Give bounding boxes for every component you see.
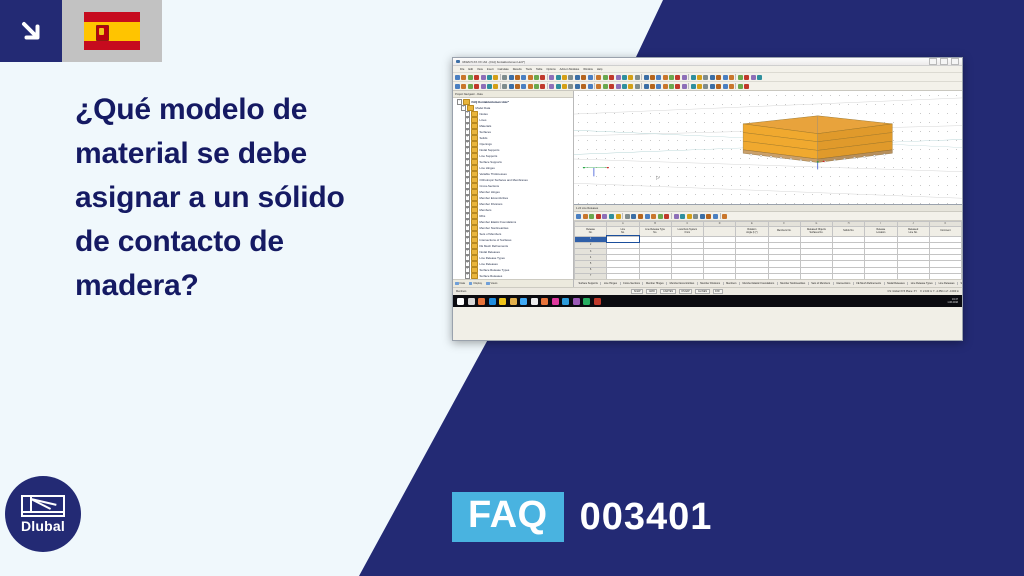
tree-item-label: Member Elastic Foundations bbox=[479, 220, 516, 224]
toolbar-icon[interactable] bbox=[625, 214, 630, 219]
toolbar-divider bbox=[594, 74, 595, 80]
toolbar-icon[interactable] bbox=[663, 84, 668, 89]
toolbar-icon[interactable] bbox=[468, 75, 473, 80]
status-dxf[interactable]: DXF bbox=[713, 289, 723, 294]
folder-icon bbox=[471, 231, 478, 237]
window-title: RFEM 5.XX.XX x64 - [FAQ Kontaktvolumen H… bbox=[463, 60, 526, 64]
tree-expander-icon[interactable]: + bbox=[465, 153, 470, 158]
toolbar-icon[interactable] bbox=[656, 75, 661, 80]
table-tab[interactable]: Sets of Members bbox=[809, 282, 834, 285]
toolbar-divider bbox=[500, 83, 501, 89]
firefox-icon[interactable] bbox=[478, 298, 485, 305]
toolbar-icon[interactable] bbox=[461, 84, 466, 89]
folder-icon bbox=[471, 243, 478, 249]
toolbar-icon[interactable] bbox=[716, 75, 721, 80]
toolbar-icon[interactable] bbox=[487, 84, 492, 89]
model-3d-view bbox=[574, 91, 962, 204]
menu-item-tools[interactable]: Tools bbox=[526, 68, 532, 71]
windows-taskbar[interactable]: 16:471.06.2016 bbox=[453, 295, 962, 307]
toolbar-icon[interactable] bbox=[693, 214, 698, 219]
toolbar-icon[interactable] bbox=[757, 75, 762, 80]
tree-expander-icon[interactable]: + bbox=[465, 201, 470, 206]
table-tab[interactable]: Member Nonlinearities bbox=[778, 282, 809, 285]
tree-expander-icon[interactable]: + bbox=[465, 219, 470, 224]
column-header[interactable]: Local Axis SystemFrom bbox=[671, 226, 703, 236]
folder-icon bbox=[471, 189, 478, 195]
folder-icon bbox=[471, 183, 478, 189]
tree-expander-icon[interactable]: + bbox=[465, 237, 470, 242]
toolbar-icon[interactable] bbox=[487, 75, 492, 80]
table-title: 1.24 Line Releases bbox=[574, 205, 962, 212]
toolbar-divider bbox=[622, 213, 623, 219]
truss-bridge-icon bbox=[21, 495, 65, 517]
column-header[interactable]: Members No. bbox=[768, 226, 800, 236]
folder-icon bbox=[471, 141, 478, 147]
toolbar-icon[interactable] bbox=[744, 75, 749, 80]
toolbar-icon[interactable] bbox=[481, 75, 486, 80]
faq-card: ¿Qué modelo de material se debe asignar … bbox=[0, 0, 1024, 576]
navigator-tab-views[interactable]: Views bbox=[491, 282, 498, 285]
cursor-arrow-icon: ▷ bbox=[656, 175, 660, 181]
tree-item-label: Line Supports bbox=[479, 154, 497, 158]
toolbar-icon[interactable] bbox=[596, 214, 601, 219]
menu-item-help[interactable]: Help bbox=[597, 68, 603, 71]
tree-expander-icon[interactable]: + bbox=[465, 255, 470, 260]
faq-tag-label: FAQ bbox=[452, 492, 564, 542]
toolbar-icon[interactable] bbox=[575, 75, 580, 80]
tree-item-label: Surface Releases bbox=[479, 274, 502, 278]
tree-expander-icon[interactable]: + bbox=[465, 123, 470, 128]
column-header[interactable]: Line Release TypeNo. bbox=[639, 226, 671, 236]
menubar: File Edit View Insert Calculate Results … bbox=[453, 66, 962, 73]
toolbar-icon[interactable] bbox=[628, 75, 633, 80]
tree-expander-icon[interactable]: + bbox=[465, 135, 470, 140]
tree-item-label: Members bbox=[479, 208, 491, 212]
tree-expander-icon[interactable]: + bbox=[465, 111, 470, 116]
model-viewport[interactable]: ▷ bbox=[574, 91, 962, 204]
toolbar-icon[interactable] bbox=[562, 84, 567, 89]
toolbar-icon[interactable] bbox=[581, 75, 586, 80]
status-osnap[interactable]: OSNAP bbox=[679, 289, 693, 294]
toolbar-icon[interactable] bbox=[682, 84, 687, 89]
toolbar-icon[interactable] bbox=[622, 75, 627, 80]
toolbar-icon[interactable] bbox=[650, 75, 655, 80]
toolbar-icon[interactable] bbox=[549, 84, 554, 89]
tree-item-label: Nodes bbox=[479, 112, 487, 116]
toolbar-icon[interactable] bbox=[722, 214, 727, 219]
wood-contact-solid bbox=[743, 116, 892, 163]
folder-icon bbox=[471, 171, 478, 177]
folder-icon bbox=[471, 123, 478, 129]
tree-expander-icon[interactable]: + bbox=[465, 189, 470, 194]
tree-expander-icon[interactable]: + bbox=[461, 105, 466, 110]
table-tab[interactable]: Intersections bbox=[834, 282, 854, 285]
toolbar-icon[interactable] bbox=[644, 84, 649, 89]
toolbar-primary bbox=[453, 73, 962, 82]
toolbar-icon[interactable] bbox=[455, 84, 460, 89]
workspace-column: ▷ 1.24 Line Releases ABCDEFGHIJK Release… bbox=[574, 91, 962, 287]
toolbar-icon[interactable] bbox=[609, 84, 614, 89]
app-icon bbox=[456, 60, 460, 64]
column-header[interactable]: Released ObjectsSurfaces No. bbox=[800, 226, 832, 236]
table-tab[interactable]: Members bbox=[724, 282, 740, 285]
toolbar-icon[interactable] bbox=[588, 84, 593, 89]
faq-badge: FAQ 003401 bbox=[452, 492, 712, 542]
tree-item-label: Line Hinges bbox=[479, 166, 494, 170]
toolbar-icon[interactable] bbox=[723, 75, 728, 80]
toolbar-icon[interactable] bbox=[729, 75, 734, 80]
navigator-tab-display[interactable]: Display bbox=[473, 282, 482, 285]
toolbar-icon[interactable] bbox=[622, 84, 627, 89]
menu-item-window[interactable]: Window bbox=[583, 68, 593, 71]
tree-expander-icon[interactable]: + bbox=[465, 129, 470, 134]
toolbar-icon[interactable] bbox=[710, 75, 715, 80]
tree-expander-icon[interactable]: + bbox=[465, 117, 470, 122]
folder-icon bbox=[471, 237, 478, 243]
toolbar-icon[interactable] bbox=[635, 84, 640, 89]
skype-icon[interactable] bbox=[562, 298, 569, 305]
faq-number: 003401 bbox=[580, 498, 713, 536]
toolbar-icon[interactable] bbox=[609, 75, 614, 80]
office-icon[interactable] bbox=[552, 298, 559, 305]
toolbar-icon[interactable] bbox=[534, 84, 539, 89]
toolbar-icon[interactable] bbox=[638, 214, 643, 219]
toolbar-icon[interactable] bbox=[631, 214, 636, 219]
explorer-icon[interactable] bbox=[499, 298, 506, 305]
dlubal-logo: Dlubal bbox=[5, 476, 81, 552]
toolbar-icon[interactable] bbox=[581, 84, 586, 89]
table-panel: 1.24 Line Releases ABCDEFGHIJK ReleaseNo… bbox=[574, 204, 962, 287]
rfem-icon[interactable] bbox=[594, 298, 601, 305]
folder-icon bbox=[471, 225, 478, 231]
table-tab[interactable]: Member Elastic Foundations bbox=[740, 282, 778, 285]
toolbar-icon[interactable] bbox=[481, 84, 486, 89]
image-icon[interactable] bbox=[573, 298, 580, 305]
menu-item-table[interactable]: Table bbox=[536, 68, 542, 71]
menu-item-calculate[interactable]: Calculate bbox=[498, 68, 509, 71]
toolbar-divider bbox=[735, 83, 736, 89]
toolbar-icon[interactable] bbox=[744, 84, 749, 89]
toolbar-icon[interactable] bbox=[603, 75, 608, 80]
tree-expander-icon[interactable]: + bbox=[465, 261, 470, 266]
toolbar-icon[interactable] bbox=[713, 214, 718, 219]
tree-expander-icon[interactable]: + bbox=[465, 183, 470, 188]
close-button[interactable] bbox=[951, 58, 959, 65]
toolbar-icon[interactable] bbox=[589, 214, 594, 219]
folder-icon bbox=[471, 153, 478, 159]
toolbar-icon[interactable] bbox=[669, 84, 674, 89]
navigator-footer-tabs: Data Display Views bbox=[453, 279, 573, 287]
tree-expander-icon[interactable]: + bbox=[465, 225, 470, 230]
toolbar-icon[interactable] bbox=[596, 75, 601, 80]
table-tabs[interactable]: Surface SupportsLine HingesCross-Section… bbox=[574, 279, 962, 287]
tree-expander-icon[interactable]: + bbox=[465, 213, 470, 218]
status-glines[interactable]: GLINES bbox=[695, 289, 709, 294]
mail-icon[interactable] bbox=[583, 298, 590, 305]
toolbar-icon[interactable] bbox=[493, 75, 498, 80]
tree-item-label: Nodal Releases bbox=[479, 250, 499, 254]
statusbar-left: Members bbox=[456, 290, 466, 293]
tree-expander-icon[interactable]: + bbox=[465, 273, 470, 278]
table-tab[interactable]: Line Releases bbox=[936, 282, 958, 285]
edge-icon[interactable] bbox=[489, 298, 496, 305]
toolbar-icon[interactable] bbox=[468, 84, 473, 89]
status-grid[interactable]: GRID bbox=[646, 289, 657, 294]
tree-item-label: Member Eccentricities bbox=[479, 196, 508, 200]
toolbar-divider bbox=[720, 213, 721, 219]
toolbar-icon[interactable] bbox=[674, 214, 679, 219]
toolbar-icon[interactable] bbox=[588, 75, 593, 80]
toolbar-icon[interactable] bbox=[515, 84, 520, 89]
toolbar-icon[interactable] bbox=[502, 84, 507, 89]
toolbar-icon[interactable] bbox=[502, 75, 507, 80]
toolbar-icon[interactable] bbox=[650, 84, 655, 89]
folder-icon bbox=[467, 105, 474, 111]
table-tab[interactable]: Member Eccentricities bbox=[667, 282, 698, 285]
table-tab[interactable]: Line Hinges bbox=[601, 282, 620, 285]
logo-text: Dlubal bbox=[21, 519, 65, 533]
column-header[interactable]: Comment bbox=[929, 226, 961, 236]
toolbar-icon[interactable] bbox=[521, 84, 526, 89]
toolbar-divider bbox=[641, 83, 642, 89]
tree-expander-icon[interactable]: + bbox=[465, 177, 470, 182]
toolbar-icon[interactable] bbox=[658, 214, 663, 219]
toolbar-icon[interactable] bbox=[664, 214, 669, 219]
column-header[interactable]: ReleasedLine No. bbox=[897, 226, 929, 236]
folder-icon bbox=[471, 195, 478, 201]
tree-item-label: FE Mesh Refinements bbox=[479, 244, 508, 248]
toolbar-divider bbox=[594, 83, 595, 89]
tree-expander-icon[interactable]: + bbox=[465, 243, 470, 248]
teams-icon[interactable] bbox=[520, 298, 527, 305]
minimize-button[interactable] bbox=[929, 58, 937, 65]
toolbar-icon[interactable] bbox=[751, 75, 756, 80]
column-header[interactable]: RotationAngle β (°) bbox=[736, 226, 768, 236]
toolbar-icon[interactable] bbox=[691, 84, 696, 89]
toolbar-divider bbox=[688, 83, 689, 89]
tree-item-label: Ribs bbox=[479, 214, 485, 218]
cortana-icon[interactable] bbox=[468, 298, 475, 305]
toolbar-icon[interactable] bbox=[603, 84, 608, 89]
toolbar-icon[interactable] bbox=[645, 214, 650, 219]
maximize-button[interactable] bbox=[940, 58, 948, 65]
toolbar-icon[interactable] bbox=[568, 75, 573, 80]
tree-expander-icon[interactable]: - bbox=[457, 99, 462, 104]
toolbar-icon[interactable] bbox=[616, 75, 621, 80]
tree-item-label: Materials bbox=[479, 124, 491, 128]
toolbar-icon[interactable] bbox=[716, 84, 721, 89]
tree-expander-icon[interactable]: + bbox=[465, 249, 470, 254]
toolbar-icon[interactable] bbox=[703, 75, 708, 80]
chrome-icon[interactable] bbox=[541, 298, 548, 305]
toolbar-icon[interactable] bbox=[628, 84, 633, 89]
statusbar-cs: CS: Global XYZ Plane: XY bbox=[888, 290, 917, 293]
toolbar-icon[interactable] bbox=[687, 214, 692, 219]
toolbar-icon[interactable] bbox=[540, 75, 545, 80]
toolbar-icon[interactable] bbox=[682, 75, 687, 80]
headline-line: de contacto de bbox=[75, 220, 405, 264]
tree-item-label: Member Divisions bbox=[479, 202, 502, 206]
tree-expander-icon[interactable]: + bbox=[465, 147, 470, 152]
tree-expander-icon[interactable]: + bbox=[465, 207, 470, 212]
folder-icon bbox=[471, 147, 478, 153]
toolbar-icon[interactable] bbox=[602, 214, 607, 219]
toolbar-icon[interactable] bbox=[710, 84, 715, 89]
toolbar-icon[interactable] bbox=[575, 84, 580, 89]
toolbar-icon[interactable] bbox=[616, 214, 621, 219]
table-tab[interactable]: FE Mesh Refinements bbox=[854, 282, 885, 285]
start-icon[interactable] bbox=[457, 298, 464, 305]
toolbar-icon[interactable] bbox=[644, 75, 649, 80]
tree-item-label: Openings bbox=[479, 142, 491, 146]
toolbar-icon[interactable] bbox=[723, 84, 728, 89]
table-tab[interactable]: Cross-Sections bbox=[621, 282, 644, 285]
tree-expander-icon[interactable]: + bbox=[465, 195, 470, 200]
column-header[interactable] bbox=[704, 226, 736, 236]
table-tab[interactable]: Surface Release Types bbox=[958, 282, 962, 285]
table-tab[interactable]: Surface Supports bbox=[576, 282, 601, 285]
toolbar-divider bbox=[547, 74, 548, 80]
toolbar-icon[interactable] bbox=[729, 84, 734, 89]
folder-icon[interactable] bbox=[510, 298, 517, 305]
folder-icon bbox=[471, 129, 478, 135]
toolbar-divider bbox=[671, 213, 672, 219]
toolbar-icon[interactable] bbox=[562, 75, 567, 80]
toolbar-icon[interactable] bbox=[596, 84, 601, 89]
toolbar-icon[interactable] bbox=[691, 75, 696, 80]
tree-item-label: Member Hinges bbox=[479, 190, 499, 194]
status-snap[interactable]: SNAP bbox=[631, 289, 643, 294]
toolbar-icon[interactable] bbox=[583, 214, 588, 219]
app-screenshot: RFEM 5.XX.XX x64 - [FAQ Kontaktvolumen H… bbox=[452, 57, 963, 341]
table-tab[interactable]: Member Hinges bbox=[643, 282, 667, 285]
folder-icon bbox=[471, 207, 478, 213]
toolbar-divider bbox=[547, 83, 548, 89]
toolbar-icon[interactable] bbox=[675, 84, 680, 89]
toolbar-icon[interactable] bbox=[556, 84, 561, 89]
toolbar-icon[interactable] bbox=[616, 84, 621, 89]
toolbar-icon[interactable] bbox=[656, 84, 661, 89]
toolbar-icon[interactable] bbox=[576, 214, 581, 219]
folder-icon bbox=[471, 255, 478, 261]
toolbar-icon[interactable] bbox=[493, 84, 498, 89]
menu-item-insert[interactable]: Insert bbox=[487, 68, 494, 71]
toolbar-icon[interactable] bbox=[669, 75, 674, 80]
menu-item-edit[interactable]: Edit bbox=[468, 68, 473, 71]
column-header[interactable]: ReleaseLocation bbox=[865, 226, 897, 236]
tree-expander-icon[interactable]: + bbox=[465, 171, 470, 176]
toolbar-icon[interactable] bbox=[540, 84, 545, 89]
tree-expander-icon[interactable]: + bbox=[465, 165, 470, 170]
folder-icon bbox=[471, 117, 478, 123]
tree-expander-icon[interactable]: + bbox=[465, 141, 470, 146]
tree-item-label: Solids bbox=[479, 136, 487, 140]
menu-item-options[interactable]: Options bbox=[546, 68, 555, 71]
toolbar-icon[interactable] bbox=[609, 214, 614, 219]
spain-flag-icon bbox=[84, 12, 140, 50]
toolbar-icon[interactable] bbox=[697, 75, 702, 80]
folder-icon bbox=[471, 249, 478, 255]
model-icon bbox=[463, 99, 470, 105]
toolbar-icon[interactable] bbox=[521, 75, 526, 80]
toolbar-icon[interactable] bbox=[474, 75, 479, 80]
navigator-tree: -FAQ Kontaktvolumen Holz*+Model Data+Nod… bbox=[453, 98, 573, 279]
menu-item-addon-modules[interactable]: Add-on Modules bbox=[560, 68, 580, 71]
toolbar-icon[interactable] bbox=[515, 75, 520, 80]
toolbar-icon[interactable] bbox=[455, 75, 460, 80]
toolbar-icon[interactable] bbox=[651, 214, 656, 219]
folder-icon bbox=[471, 219, 478, 225]
toolbar-icon[interactable] bbox=[706, 214, 711, 219]
tree-item-label: Lines bbox=[479, 118, 486, 122]
status-cartes[interactable]: CARTES bbox=[660, 289, 675, 294]
notes-icon[interactable] bbox=[531, 298, 538, 305]
toolbar-icon[interactable] bbox=[534, 75, 539, 80]
tree-expander-icon[interactable]: + bbox=[465, 231, 470, 236]
toolbar-icon[interactable] bbox=[509, 84, 514, 89]
taskbar-clock[interactable]: 16:471.06.2016 bbox=[947, 298, 958, 304]
table-tab[interactable]: Nodal Releases bbox=[885, 282, 909, 285]
tree-item-label: Surface Release Types bbox=[479, 268, 509, 272]
column-header[interactable]: Solids No. bbox=[833, 226, 865, 236]
table-tab[interactable]: Member Divisions bbox=[698, 282, 724, 285]
toolbar-icon[interactable] bbox=[635, 75, 640, 80]
table-grid[interactable]: ABCDEFGHIJK ReleaseNo.LineNo.Line Releas… bbox=[574, 221, 962, 279]
tree-expander-icon[interactable]: + bbox=[465, 159, 470, 164]
tree-item-label: Intersections of Surfaces bbox=[479, 238, 511, 242]
toolbar-icon[interactable] bbox=[680, 214, 685, 219]
column-header[interactable]: ReleaseNo. bbox=[575, 226, 607, 236]
toolbar-divider bbox=[735, 74, 736, 80]
tree-item-label: Variable Thicknesses bbox=[479, 172, 506, 176]
tree-item-label: Line Releases bbox=[479, 262, 497, 266]
toolbar-icon[interactable] bbox=[738, 75, 743, 80]
tree-item-label: Cross-Sections bbox=[479, 184, 499, 188]
menu-item-results[interactable]: Results bbox=[513, 68, 522, 71]
tree-expander-icon[interactable]: + bbox=[465, 267, 470, 272]
arrow-badge bbox=[0, 0, 62, 62]
toolbar-icon[interactable] bbox=[509, 75, 514, 80]
toolbar-icon[interactable] bbox=[568, 84, 573, 89]
toolbar-icon[interactable] bbox=[738, 84, 743, 89]
tree-item-label: Surface Supports bbox=[479, 160, 501, 164]
toolbar-icon[interactable] bbox=[474, 84, 479, 89]
toolbar-icon[interactable] bbox=[556, 75, 561, 80]
folder-icon bbox=[471, 267, 478, 273]
folder-icon bbox=[471, 261, 478, 267]
table-tab[interactable]: Line Release Types bbox=[908, 282, 936, 285]
toolbar-icon[interactable] bbox=[528, 75, 533, 80]
toolbar-icon[interactable] bbox=[675, 75, 680, 80]
column-header[interactable]: LineNo. bbox=[607, 226, 639, 236]
toolbar-icon[interactable] bbox=[663, 75, 668, 80]
toolbar-icon[interactable] bbox=[697, 84, 702, 89]
toolbar-icon[interactable] bbox=[528, 84, 533, 89]
toolbar-icon[interactable] bbox=[700, 214, 705, 219]
folder-icon bbox=[471, 165, 478, 171]
navigator-header: Project Navigator - Data bbox=[453, 91, 573, 98]
tree-item-label: Orthotropic Surfaces and Membranes bbox=[479, 178, 527, 182]
navigator-tab-data[interactable]: Data bbox=[460, 282, 465, 285]
headline-line: ¿Qué modelo de bbox=[75, 88, 405, 132]
headline-line: asignar a un sólido bbox=[75, 176, 405, 220]
toolbar-icon[interactable] bbox=[703, 84, 708, 89]
folder-icon bbox=[471, 273, 478, 279]
toolbar-icon[interactable] bbox=[549, 75, 554, 80]
toolbar-icon[interactable] bbox=[461, 75, 466, 80]
menu-item-view[interactable]: View bbox=[477, 68, 483, 71]
menu-item-file[interactable]: File bbox=[460, 68, 464, 71]
